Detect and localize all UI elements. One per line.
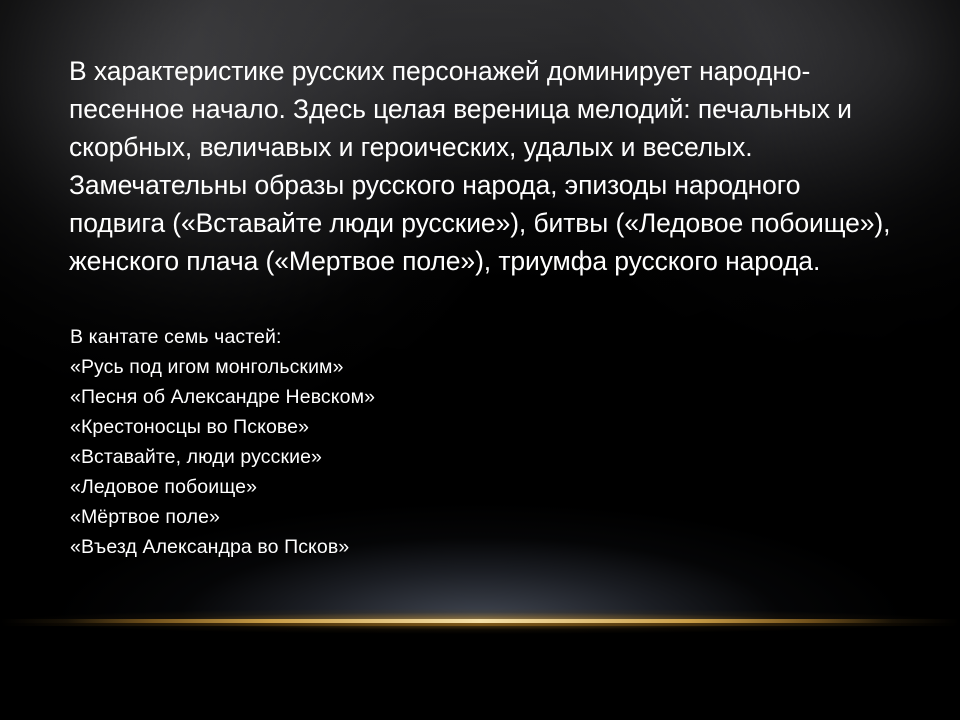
list-item: «Ледовое побоище» — [70, 472, 375, 502]
list-item: «Вставайте, люди русские» — [70, 442, 375, 472]
list-item: «Песня об Александре Невском» — [70, 382, 375, 412]
list-item: «Мёртвое поле» — [70, 502, 375, 532]
list-item: «Крестоносцы во Пскове» — [70, 412, 375, 442]
list-item: «Русь под игом монгольским» — [70, 352, 375, 382]
list-item: «Въезд Александра во Псков» — [70, 532, 375, 562]
presentation-slide: В характеристике русских персонажей доми… — [0, 0, 960, 720]
cantata-intro-line: В кантате семь частей: — [70, 322, 282, 352]
body-paragraph: В характеристике русских персонажей доми… — [69, 52, 897, 280]
cantata-parts-list: «Русь под игом монгольским» «Песня об Ал… — [70, 352, 375, 562]
slide-content: В характеристике русских персонажей доми… — [0, 0, 960, 720]
